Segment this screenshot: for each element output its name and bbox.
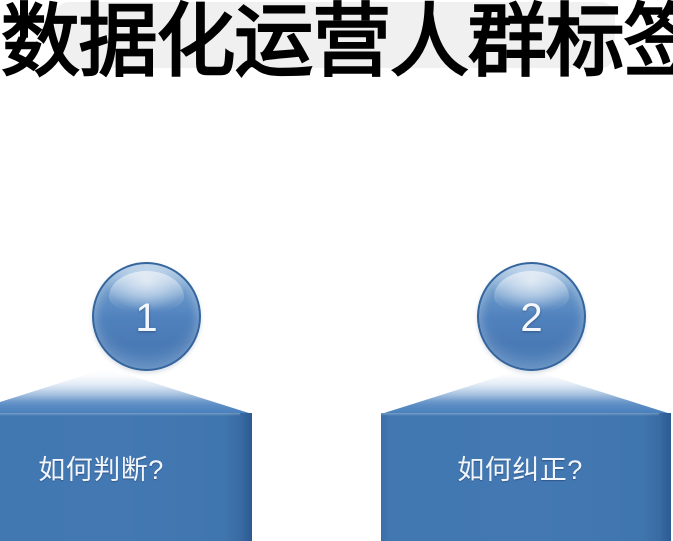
prism-label-2: 如何纠正?	[381, 454, 659, 486]
number-sphere-2[interactable]: 2	[477, 262, 586, 371]
number-sphere-1[interactable]: 1	[92, 262, 201, 371]
sphere-number-label-1: 1	[94, 264, 199, 369]
prism-roof-1	[0, 370, 252, 414]
sphere-number-label-2: 2	[479, 264, 584, 369]
prism-label-1: 如何判断?	[0, 454, 240, 486]
prism-shape-1: 如何判断?	[0, 370, 252, 541]
prism-body-top-edge-1	[0, 413, 252, 416]
prism-side-facet-2	[659, 413, 671, 541]
prism-body-top-edge-2	[381, 413, 671, 416]
prism-side-facet-1	[240, 413, 252, 541]
prism-shape-2: 如何纠正?	[381, 370, 671, 541]
page-title: 数据化运营人群标签	[0, 0, 663, 88]
title-area: 数据化运营人群标签	[0, 0, 673, 100]
slide-canvas: 数据化运营人群标签 如何判断? 1 如何纠正? 2	[0, 0, 673, 541]
prism-roof-2	[381, 370, 671, 414]
